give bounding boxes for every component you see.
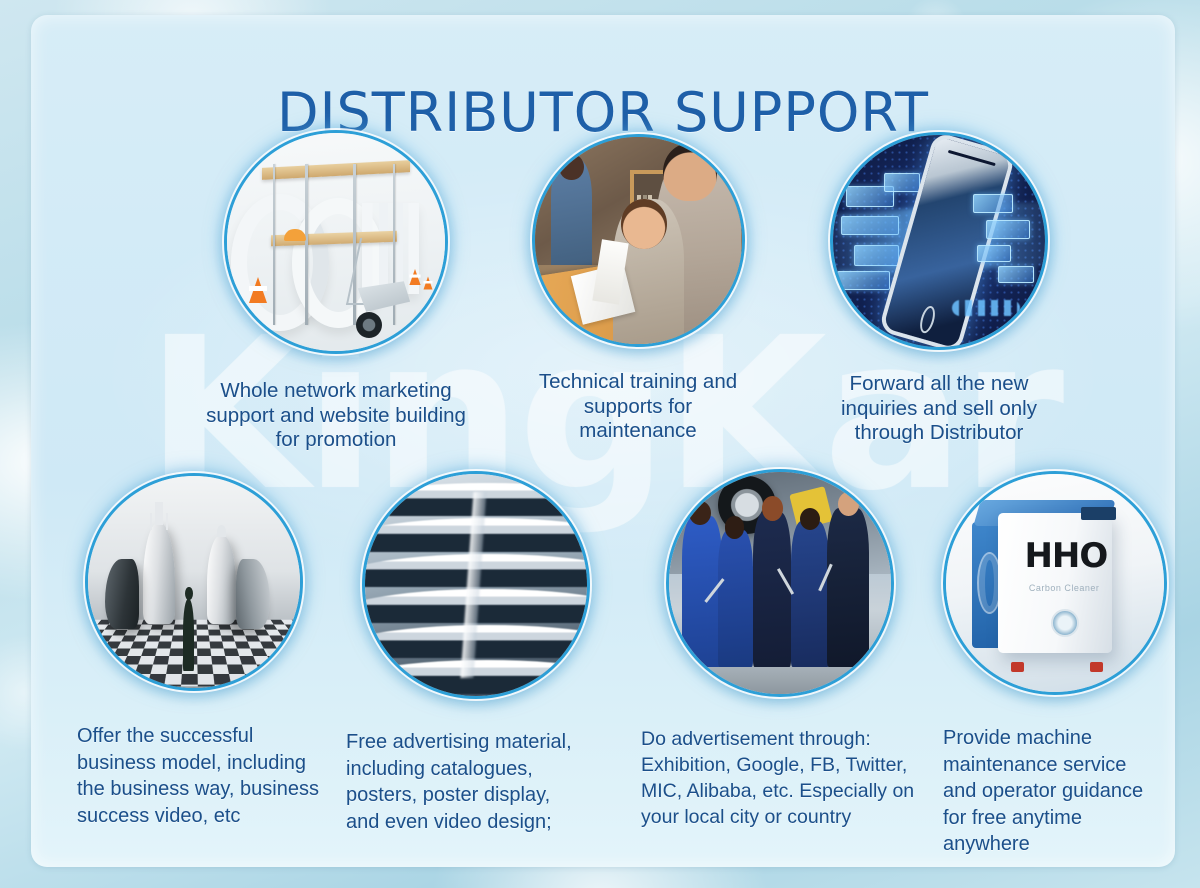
feature-card-advertisement-channels[interactable]: Do advertisement through: Exhibition, Go… [611,469,951,831]
feature-card-technical-training[interactable]: Technical training and supports for main… [493,134,783,444]
dot-com-scaffolding-photo [224,130,448,354]
content-panel: KingKar DISTRIBUTOR SUPPORT Whole networ… [31,15,1175,867]
feature-card-forward-inquiries[interactable]: Forward all the new inquiries and sell o… [789,132,1089,446]
open-books-catalogue-photo [362,471,590,699]
feature-caption: Whole network marketing support and webs… [176,379,496,453]
feature-card-maintenance-service[interactable]: HHO Carbon Cleaner Provide machine maint… [931,471,1175,858]
feature-row-top: Whole network marketing support and webs… [31,110,1175,470]
feature-caption: Technical training and supports for main… [493,370,783,444]
feature-caption: Offer the successful business model, inc… [49,723,339,829]
feature-row-bottom: Offer the successful business model, inc… [31,455,1175,865]
hho-carbon-cleaner-machine-photo: HHO Carbon Cleaner [943,471,1167,695]
feature-card-advertising-material[interactable]: Free advertising material, including cat… [326,471,626,835]
feature-card-whole-network-marketing[interactable]: Whole network marketing support and webs… [176,130,496,453]
mechanics-team-photo [666,469,894,697]
feature-caption: Provide machine maintenance service and … [931,725,1175,858]
smartphone-digital-network-photo [830,132,1048,350]
feature-caption: Free advertising material, including cat… [326,729,626,835]
machine-subtitle-text: Carbon Cleaner [1029,583,1116,593]
feature-caption: Forward all the new inquiries and sell o… [789,372,1089,446]
machine-logo-text: HHO [1024,539,1116,573]
poster-canvas: KingKar DISTRIBUTOR SUPPORT Whole networ… [0,0,1200,888]
couple-reviewing-documents-photo [532,134,745,347]
feature-card-business-model[interactable]: Offer the successful business model, inc… [49,473,339,829]
chess-strategy-photo [85,473,303,691]
feature-caption: Do advertisement through: Exhibition, Go… [611,727,951,831]
